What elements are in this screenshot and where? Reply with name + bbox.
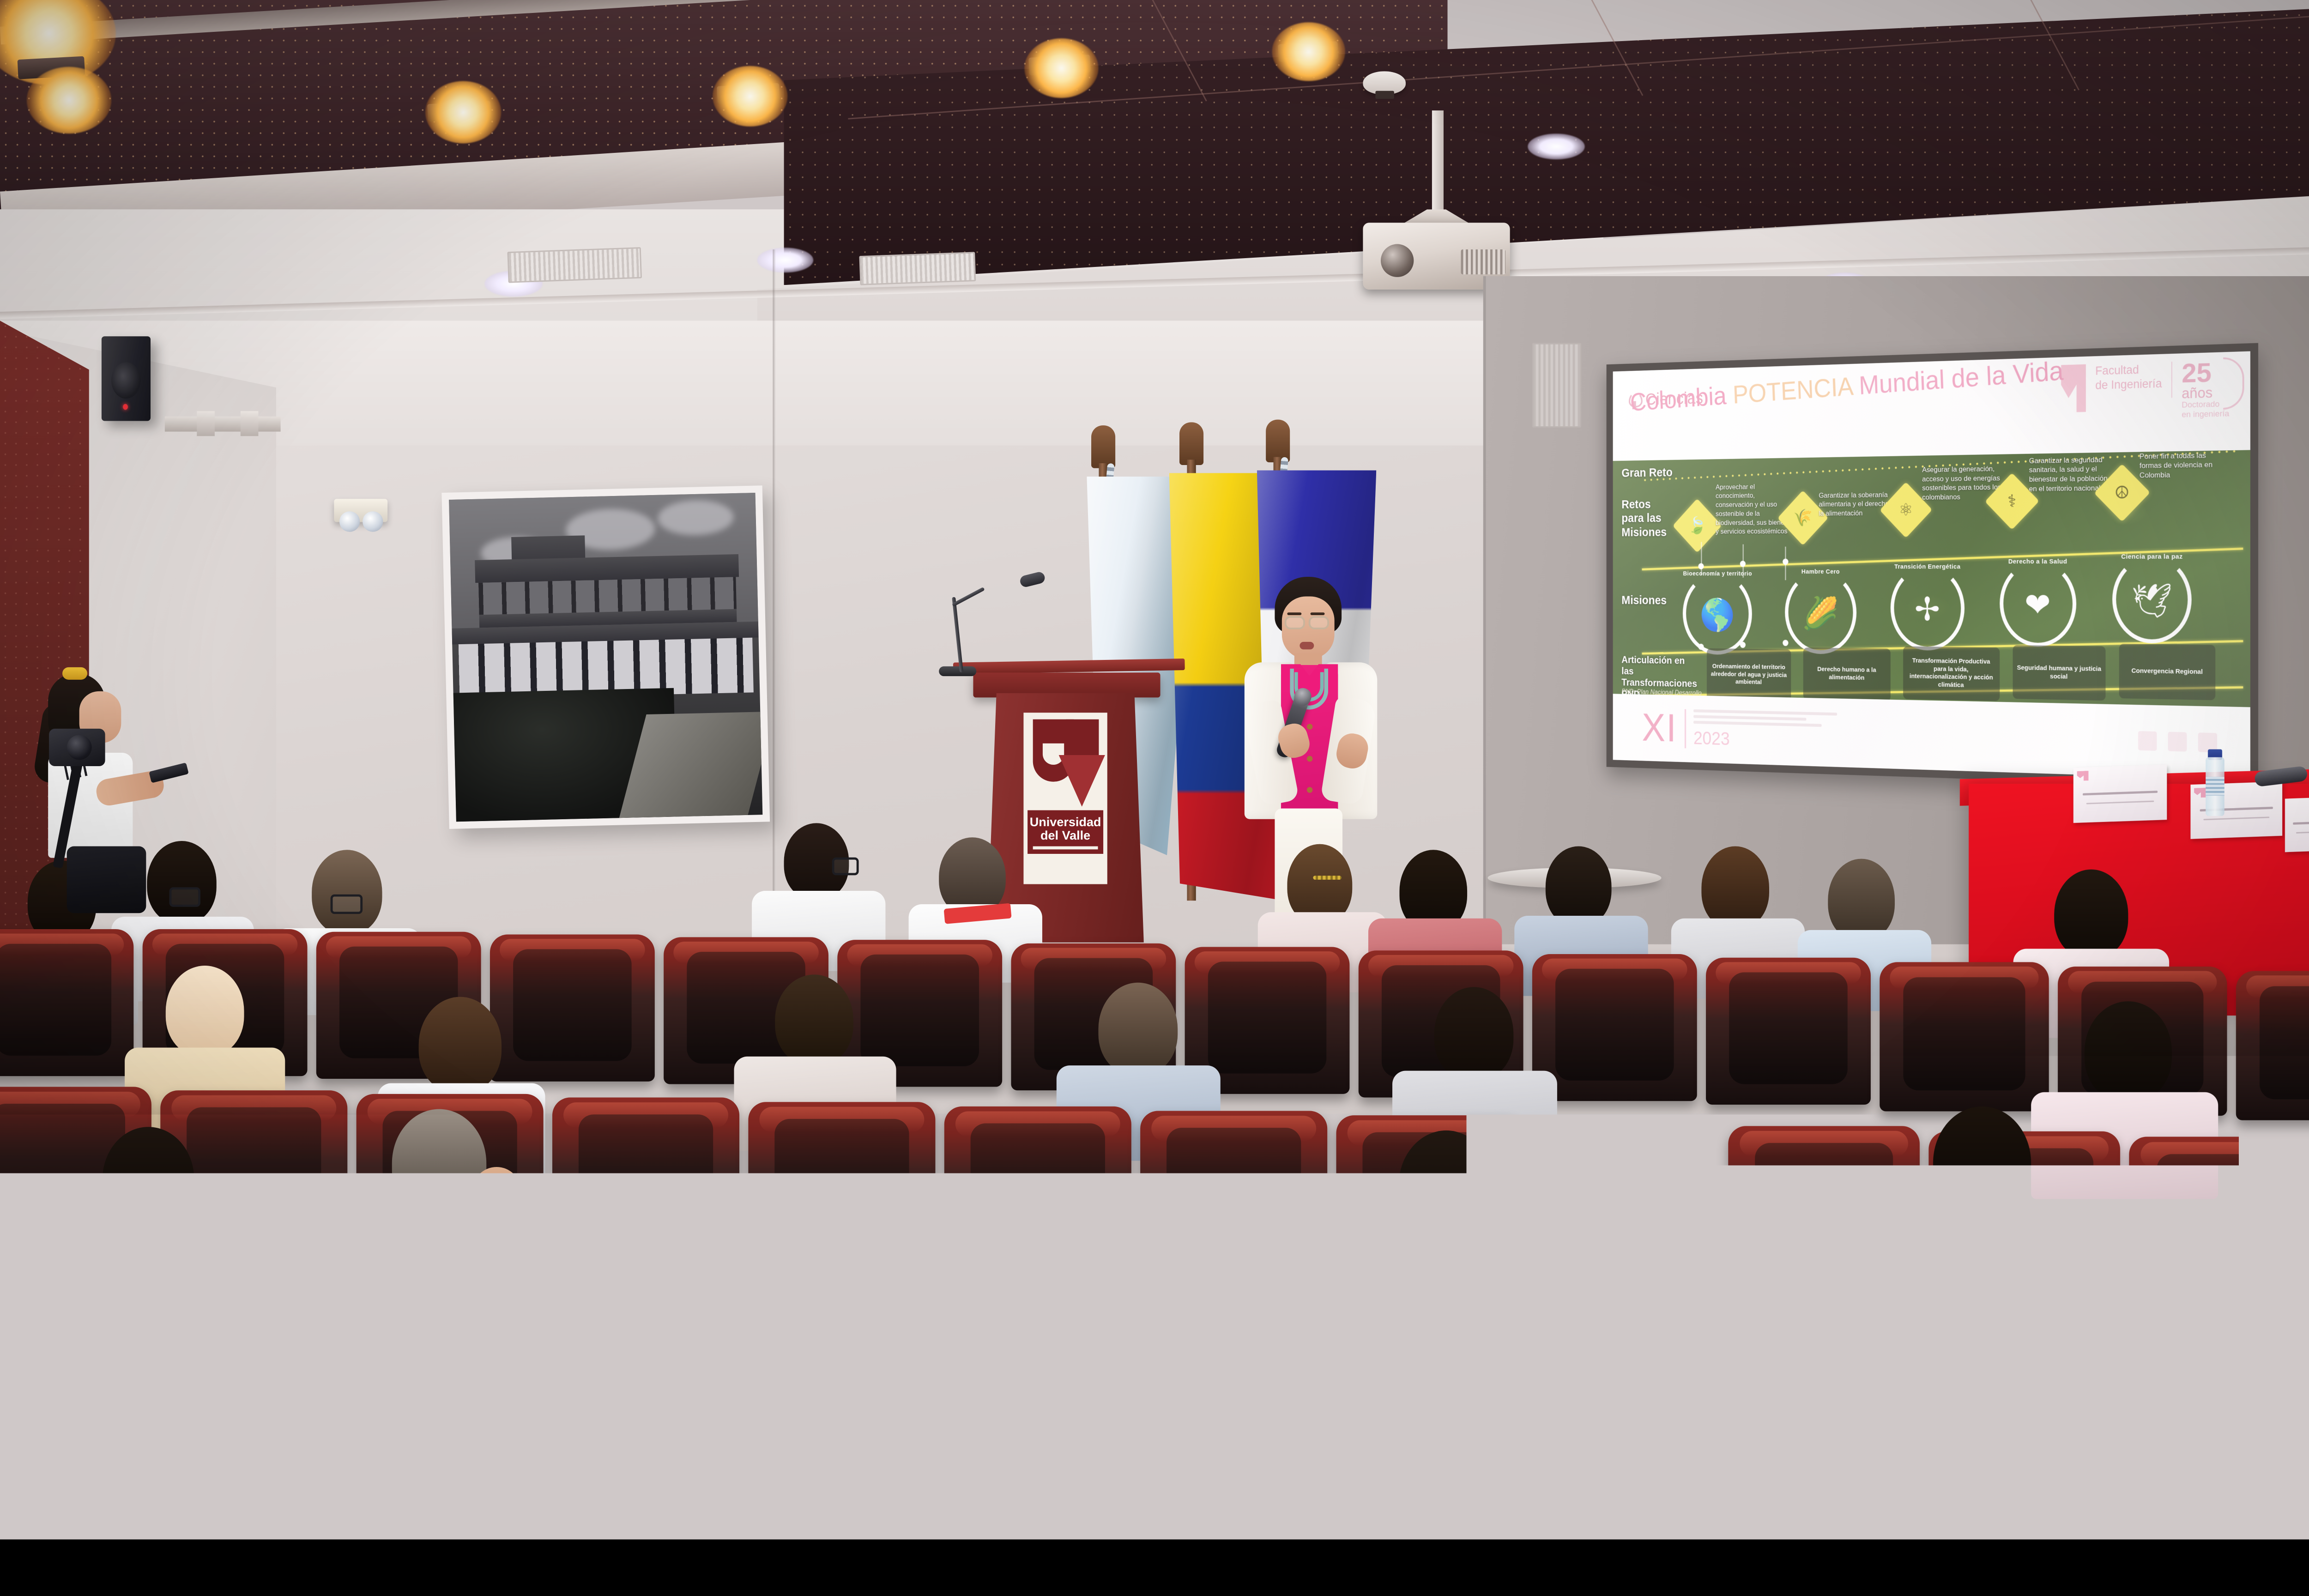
audience-glasses-icon <box>1470 1188 1509 1212</box>
photographer-hair-tie <box>62 667 87 680</box>
footer-line <box>1693 721 1822 727</box>
heart-icon: ❤ <box>2025 589 2051 622</box>
institution-line2: del Valle <box>1029 829 1101 842</box>
institution-line1: Universidad <box>1029 816 1101 829</box>
slide-node <box>1783 558 1788 564</box>
anniversary-sub2: en ingeniería <box>2182 409 2229 420</box>
seat-highlight <box>2248 1342 2309 1372</box>
footer-sponsor-icons <box>2138 731 2217 752</box>
seat-highlight <box>1104 1311 1296 1341</box>
footer-text-block: 2023 <box>1693 709 1837 753</box>
ceiling-light-warm <box>425 81 501 144</box>
seat-highlight <box>1368 955 1513 977</box>
row-label-gran-reto: Gran Reto <box>1621 465 1672 480</box>
transformacion-4: Seguridad humana y justicia social <box>2013 645 2105 701</box>
audience-head <box>1546 846 1612 927</box>
faculty-line2: de Ingeniería <box>2095 376 2162 393</box>
leaf-icon: 🍃 <box>1688 518 1707 534</box>
peace-icon: ☮ <box>2115 484 2130 502</box>
ceiling-light-warm <box>1272 22 1345 81</box>
emergency-light <box>334 499 387 522</box>
auditorium-seat <box>1140 1111 1327 1280</box>
anniversary-number: 25 <box>2182 360 2229 386</box>
camera-lens-icon <box>67 735 92 760</box>
slide-header: Ciencias Facultad de Ingeniería 25 años … <box>1613 351 2250 461</box>
tent-card-title-line <box>2086 801 2154 804</box>
auditorium-scene: Ciencias Facultad de Ingeniería 25 años … <box>0 0 2309 1539</box>
footer-divider <box>1685 709 1686 749</box>
mision-2: Hambre Cero 🌽 <box>1785 570 1856 654</box>
globe-biodiversity-icon: 🌎 <box>1700 599 1735 631</box>
presenter-glasses-icon <box>1309 616 1329 629</box>
auditorium-seat <box>1701 1458 1951 1540</box>
ceiling-air-vent <box>859 252 976 285</box>
audience-head <box>1828 859 1895 941</box>
presenter-brow <box>1311 612 1325 615</box>
seat-highlight <box>1021 948 1166 970</box>
title-part-2: POTENCIA <box>1732 372 1853 410</box>
tent-card-title-line <box>2203 816 2269 820</box>
audience-hand <box>472 1167 521 1216</box>
presentation-slide: Ciencias Facultad de Ingeniería 25 años … <box>1613 351 2250 780</box>
mision-5: Ciencia para la paz 🕊 <box>2112 556 2192 644</box>
logo-square-shape <box>1066 719 1099 756</box>
title-part-3: Mundial de la Vida <box>1858 356 2064 400</box>
audience-head <box>1399 1130 1494 1241</box>
event-year: 2023 <box>1693 728 1837 753</box>
auditorium-seat <box>1439 1453 1688 1539</box>
seat-highlight <box>1195 951 1340 973</box>
wheat-grain-icon: 🌽 <box>1802 598 1839 629</box>
tent-card-name-line <box>2083 791 2158 795</box>
audience-hairclip <box>1313 876 1342 880</box>
seat-highlight <box>1331 1317 1523 1347</box>
flagpole-finial <box>1091 425 1115 468</box>
logo-divider <box>2171 362 2172 398</box>
faculty-line1: Facultad <box>2095 362 2162 378</box>
title-part-1: Colombia <box>1630 381 1727 417</box>
seat-highlight <box>196 1289 388 1319</box>
seat-highlight <box>1740 1131 1908 1156</box>
presenter-glasses-icon <box>1285 616 1305 629</box>
name-tent-card-1 <box>2073 764 2167 823</box>
projector-vent <box>1461 249 1505 274</box>
footer-line <box>1693 709 1837 716</box>
presenter-button <box>1307 756 1313 762</box>
seat-highlight <box>1543 1126 1708 1151</box>
wall-mount-bracket <box>165 417 281 432</box>
lectern-rule <box>1033 846 1098 850</box>
seat-highlight <box>1717 1462 1936 1481</box>
seat-highlight <box>1454 1457 1673 1475</box>
audience-head <box>392 1109 486 1218</box>
mision-1: Bioeconomía y territorio 🌎 <box>1683 573 1752 655</box>
audience-head <box>312 850 382 934</box>
emergency-lamp-icon <box>363 511 383 532</box>
reto-text-1: Aprovechar el conocimiento, conservación… <box>1716 482 1791 536</box>
transformacion-3: Transformación Productiva para la vida, … <box>1903 646 2000 701</box>
seat-highlight <box>1890 967 2039 989</box>
audience-glasses-icon <box>832 858 859 876</box>
transformacion-5: Convergencia Regional <box>2119 644 2215 700</box>
seat-highlight <box>2233 1438 2309 1458</box>
seat-highlight <box>650 1300 842 1330</box>
water-bottle-label <box>2206 777 2224 796</box>
mision-label-5: Ciencia para la paz <box>2112 553 2192 560</box>
anniversary-word: años <box>2182 385 2229 400</box>
ceiling-light-warm <box>27 67 111 134</box>
ceiling-light-warm <box>713 66 787 127</box>
seat-highlight <box>674 942 819 964</box>
engineering-logo-icon <box>2061 364 2086 413</box>
transformacion-1: Ordenamiento del territorio alrededor de… <box>1707 648 1791 701</box>
seat-highlight <box>847 944 992 967</box>
auditorium-seat <box>0 929 133 1076</box>
auditorium-seat <box>182 1284 401 1480</box>
seat-highlight <box>877 1306 1069 1335</box>
seat-highlight <box>563 1103 728 1128</box>
photo-building-colonnade <box>478 577 737 615</box>
name-tent-card-3 <box>2285 796 2309 852</box>
audience-head <box>1434 987 1514 1081</box>
auditorium-seat <box>2236 971 2309 1120</box>
tent-card-title-line <box>2296 830 2309 834</box>
auditorium-seat <box>2129 1137 2309 1308</box>
auditorium-seat <box>490 935 655 1082</box>
auditorium-seat <box>1964 1463 2213 1539</box>
lectern-branding-plate: Universidad del Valle <box>1023 713 1107 884</box>
slide-title: Colombia POTENCIA Mundial de la Vida <box>1630 356 2064 417</box>
seat-highlight <box>955 1112 1120 1137</box>
wheat-icon: 🌾 <box>1793 509 1812 526</box>
audience-head <box>1098 983 1178 1076</box>
health-icon: ⚕ <box>2008 493 2017 510</box>
mision-label-3: Transición Energética <box>1891 563 1964 570</box>
auditorium-seat <box>913 1443 1162 1539</box>
auditorium-seat <box>1532 1121 1719 1290</box>
auditorium-seat <box>1880 962 2049 1111</box>
auditorium-seat <box>1532 954 1697 1101</box>
seat-highlight <box>152 933 297 955</box>
auditorium-seat <box>1176 1448 1425 1540</box>
presenter-brow <box>1287 612 1301 615</box>
footer-line <box>1693 715 1806 720</box>
wall-air-vent <box>1532 343 1581 428</box>
audience-head <box>103 1127 194 1232</box>
wall-corner-edge <box>773 249 776 895</box>
ceiling-air-vent <box>507 247 642 283</box>
tent-card-name-line <box>2293 820 2309 825</box>
sponsor-logo-icon <box>2168 732 2187 752</box>
seat-highlight <box>0 1092 140 1117</box>
seat-highlight <box>928 1447 1148 1466</box>
lectern-microphone-base <box>939 666 976 676</box>
presenter-button <box>1307 724 1313 730</box>
anniversary-sub1: Doctorado <box>2182 399 2229 410</box>
anniversary-badge: 25 años Doctorado en ingeniería <box>2182 360 2229 420</box>
flagpole-finial <box>1179 422 1203 465</box>
anniversary-arc-icon <box>2223 357 2244 410</box>
seat-highlight <box>1151 1116 1316 1141</box>
presenter-mouth <box>1300 642 1314 649</box>
auditorium-seat <box>1706 958 1871 1105</box>
seat-highlight <box>326 936 471 958</box>
wall-photo-image <box>449 493 762 822</box>
wall-seam <box>1483 276 1486 944</box>
name-tent-card-2 <box>2190 781 2282 839</box>
energy-icon: ⚛ <box>1899 502 1913 519</box>
framed-wall-photo <box>441 485 770 829</box>
mision-label-4: Derecho a la Salud <box>2000 558 2076 565</box>
row-label-retos: Retos para las Misiones <box>1621 497 1667 539</box>
audience-head <box>2085 1001 2172 1102</box>
speaker-cone-icon <box>111 362 141 399</box>
event-edition-number: XI <box>1642 710 1677 746</box>
ceiling-light-warm <box>1024 38 1098 98</box>
dove-peace-icon: 🕊 <box>2131 584 2172 618</box>
flagpole-finial <box>1266 420 1290 463</box>
seat-highlight <box>2246 975 2309 997</box>
auditorium-seat <box>944 1106 1131 1276</box>
seat-highlight <box>0 933 124 955</box>
seat-highlight <box>1979 1467 2199 1486</box>
mision-4: Derecho a la Salud ❤ <box>2000 561 2076 647</box>
projector-mount-pole <box>1432 110 1444 222</box>
seat-highlight <box>423 1295 615 1324</box>
seat-highlight <box>1542 959 1687 981</box>
camera-bag <box>67 846 146 913</box>
auditorium-seat <box>2223 1434 2309 1540</box>
university-logo-icon <box>1028 717 1103 810</box>
seat-highlight <box>2141 1142 2309 1168</box>
tent-card-logo-icon <box>2077 771 2088 781</box>
mision-3: Transición Energética ✢ <box>1891 566 1964 651</box>
seat-highlight <box>500 939 645 961</box>
audience-head <box>419 997 502 1093</box>
reto-text-5: Poner fin a todas las formas de violenci… <box>2140 450 2225 480</box>
auditorium-seat <box>748 1102 935 1271</box>
audience-head <box>1933 1106 2031 1220</box>
seat-highlight <box>2018 1336 2213 1366</box>
audience-head <box>166 966 244 1057</box>
speaker-power-led <box>123 404 128 410</box>
seat-highlight <box>1786 1330 1982 1359</box>
faculty-engineering-text: Facultad de Ingeniería <box>2095 362 2162 393</box>
ceiling-downlight <box>1528 133 1584 159</box>
seat-highlight <box>0 1284 161 1314</box>
seat-highlight <box>172 1095 336 1121</box>
row-label-misiones: Misiones <box>1621 594 1667 608</box>
foreground-audience-head <box>570 1363 873 1539</box>
seat-highlight <box>2068 971 2217 993</box>
audience-head <box>1701 846 1769 929</box>
wall-speaker <box>102 336 151 421</box>
transformacion-2: Derecho humano a la alimentación <box>1803 647 1891 701</box>
sponsor-logo-icon <box>2138 731 2157 751</box>
projection-screen: Ciencias Facultad de Ingeniería 25 años … <box>1607 343 2258 789</box>
mision-label-1: Bioeconomía y territorio <box>1683 570 1752 577</box>
seat-highlight <box>1559 1324 1751 1353</box>
seat-highlight <box>760 1107 924 1132</box>
logo-v-triangle <box>1059 755 1105 807</box>
audience-glasses-icon <box>169 887 201 907</box>
audience-head <box>147 841 216 924</box>
emergency-lamp-icon <box>339 511 360 532</box>
smoke-detector <box>1363 71 1406 94</box>
auditorium-seat <box>552 1098 739 1267</box>
lectern-institution-name: Universidad del Valle <box>1028 810 1103 854</box>
audience-body <box>1875 1208 2085 1331</box>
projector-lens-icon <box>1381 244 1414 277</box>
ceiling-downlight <box>757 248 814 272</box>
faculty-logo-right: Facultad de Ingeniería 25 años Doctorado… <box>2061 360 2229 423</box>
audience-head <box>2054 870 2128 959</box>
presenter-button <box>1307 787 1313 793</box>
seat-highlight <box>1716 962 1861 984</box>
audience-head <box>775 974 853 1065</box>
tent-card-logo-icon <box>2194 788 2206 798</box>
mision-label-2: Hambre Cero <box>1785 568 1856 575</box>
audience-glasses-icon <box>331 895 363 914</box>
seat-highlight <box>1191 1451 1410 1470</box>
slide-body: Gran Reto Retos para las Misiones Mision… <box>1613 450 2250 707</box>
wind-turbine-icon: ✢ <box>1915 593 1940 626</box>
